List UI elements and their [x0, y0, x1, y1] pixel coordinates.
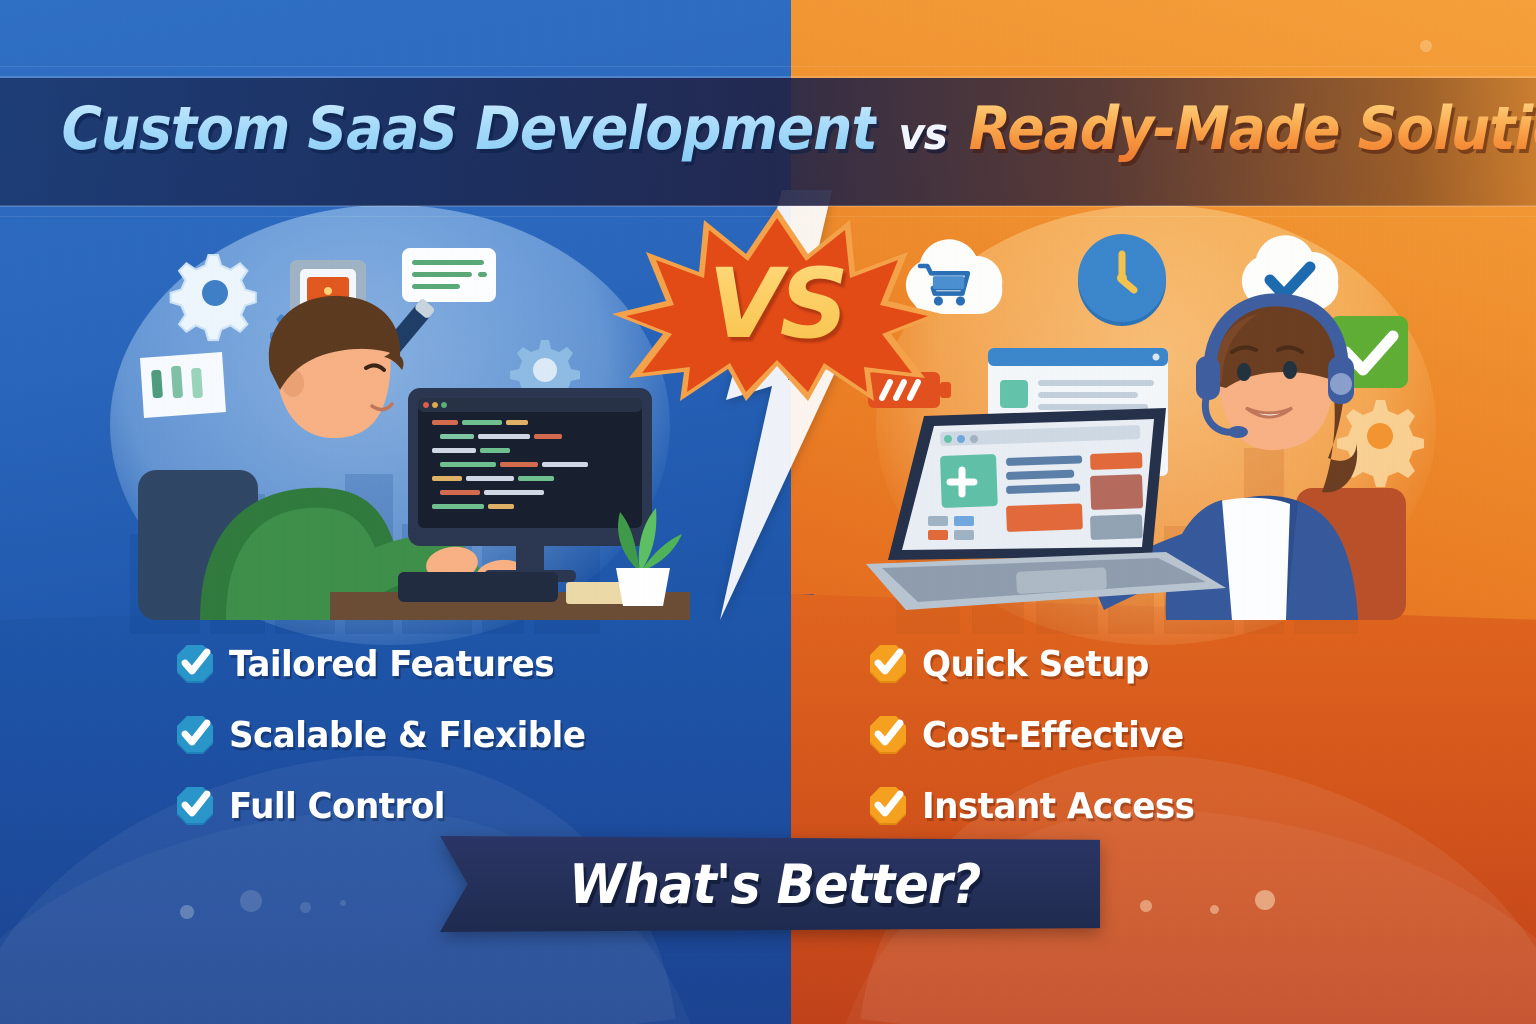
left-illustration — [130, 220, 690, 620]
check-badge-icon — [175, 787, 215, 827]
feature-item: Instant Access — [868, 778, 1209, 835]
feature-item: Cost-Effective — [868, 707, 1209, 764]
feature-label: Cost-Effective — [922, 715, 1184, 756]
right-illustration — [866, 220, 1426, 620]
plant-icon — [616, 508, 682, 606]
title-part-ready-made: Ready-Made Solutions: — [969, 94, 1536, 164]
vs-badge: VS — [612, 206, 942, 401]
clock-icon — [1078, 234, 1166, 326]
background-dot — [1210, 905, 1219, 914]
feature-label: Scalable & Flexible — [229, 715, 585, 756]
background-dot — [1140, 900, 1152, 912]
vs-label: VS — [612, 206, 942, 407]
check-badge-icon — [868, 716, 908, 756]
feature-item: Tailored Features — [175, 636, 604, 693]
feature-item: Scalable & Flexible — [175, 707, 604, 764]
right-feature-list: Quick Setup Cost-Effective Instant Acc — [868, 636, 1209, 849]
keyboard — [398, 572, 558, 602]
background-dot — [1420, 40, 1432, 52]
feature-label: Full Control — [229, 786, 445, 827]
bottom-ribbon: What's Better? — [440, 836, 1100, 932]
title-band-rule — [0, 76, 1536, 78]
background-dot — [340, 900, 346, 906]
background-dot — [1255, 890, 1275, 910]
chart-card-icon — [140, 352, 226, 418]
ribbon-label: What's Better? — [460, 836, 1080, 932]
left-feature-list: Tailored Features Scalable & Flexible — [175, 636, 604, 849]
title-band-rule — [0, 66, 1536, 67]
check-badge-icon — [868, 645, 908, 685]
infographic-canvas: Custom SaaS Development vs Ready-Made So… — [0, 0, 1536, 1024]
check-badge-icon — [175, 716, 215, 756]
gear-icon — [171, 255, 256, 340]
page-title: Custom SaaS Development vs Ready-Made So… — [61, 94, 1474, 164]
background-dot — [180, 905, 194, 919]
check-badge-icon — [175, 645, 215, 685]
check-badge-icon — [868, 787, 908, 827]
title-part-custom: Custom SaaS Development — [61, 94, 876, 164]
laptop — [866, 408, 1226, 610]
background-dot — [300, 902, 311, 913]
background-dot — [240, 890, 262, 912]
feature-item: Full Control — [175, 778, 604, 835]
feature-label: Quick Setup — [922, 644, 1149, 685]
title-part-vs: vs — [895, 109, 951, 160]
feature-label: Instant Access — [922, 786, 1194, 827]
feature-label: Tailored Features — [229, 644, 554, 685]
feature-item: Quick Setup — [868, 636, 1209, 693]
document-lines-icon — [402, 248, 496, 302]
